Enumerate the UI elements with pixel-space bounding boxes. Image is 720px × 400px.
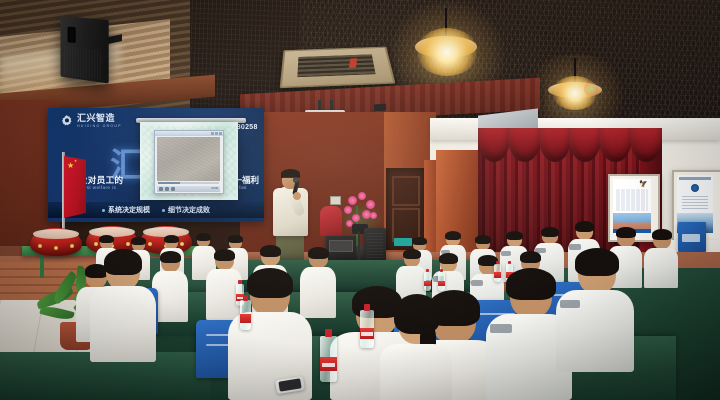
conference-room-photo: 🦅 [0,0,720,400]
speaker-grille [64,46,103,81]
bottle-label [240,314,251,323]
attendee-hair [475,235,491,244]
attendee-torso [380,344,452,400]
table-leg [40,256,44,278]
vent-inner [297,54,375,77]
bottle-label [424,281,431,287]
projection-screen: 00:00 [140,122,238,200]
air-conditioner-vent [280,47,396,89]
logo-subtext: HUIXING GROUP [77,124,122,128]
attendee-hair [445,231,461,240]
attendee [644,230,678,288]
attendee-hair [247,268,293,298]
curtain-valance [478,128,660,162]
valance-swag [599,128,631,162]
water-bottle[interactable] [360,310,374,348]
attendee-hair [160,251,181,263]
poster-logo-icon [691,184,699,192]
attendee-hair [412,237,427,245]
phone-screen [278,378,301,391]
stop-icon[interactable] [171,187,175,191]
seek-progress [158,182,180,184]
attendee-hair [228,235,243,243]
attendee-hair [99,235,114,243]
eagle-icon: 🦅 [639,181,648,188]
attendee-hair [506,268,556,300]
attendee-hair [616,227,636,238]
close-icon[interactable] [219,132,222,135]
media-player-window[interactable]: 00:00 [154,130,224,194]
water-bottle[interactable] [438,272,445,291]
attendee-torso [90,286,156,362]
uniform-stripe [490,324,512,333]
uniform-stripe [560,300,580,308]
attendee-hair [575,221,594,232]
attendee-hair [214,249,235,261]
flag-small-star-icon: ★ [74,160,77,164]
vent-slats [297,54,375,77]
attendee-hair [403,249,421,259]
video-noise [157,137,220,181]
footer-item: 细节决定成败 [162,205,210,215]
valance-swag [539,128,571,162]
flower-bloom [352,214,360,222]
attendee-hair [260,245,281,257]
attendee-hair [541,227,559,237]
attendee-foreground [556,252,634,372]
attendee-hair [439,253,458,264]
logo-text: 汇兴智造 [77,114,122,123]
poster-title-bar [679,177,711,180]
attendee-foreground [90,252,156,362]
valance-swag [508,128,540,162]
flower-bloom [366,200,375,209]
lens-flare [584,82,598,96]
water-bottle[interactable] [240,300,251,330]
uniform-stripe [471,280,483,286]
bullet-icon [162,209,165,212]
attendee-hair [308,247,329,259]
flower-bloom [358,192,366,200]
flower-bloom [348,196,357,205]
bottle-cap [325,329,332,337]
valance-swag [630,128,662,162]
ceremonial-drum [30,228,82,256]
water-bottle[interactable] [424,272,431,291]
microphone-head-icon [293,177,299,183]
minimize-icon[interactable] [211,132,214,135]
poster-text-lines [682,195,708,209]
company-logo: 汇兴智造 HUIXING GROUP [60,114,122,128]
attendee-hair [196,233,211,241]
attendee-ponytail [380,296,452,400]
drum-stud [70,244,74,248]
valance-swag [478,128,510,162]
valance-swag [569,128,601,162]
presenter-hand [293,192,301,200]
stage-chair [320,206,342,236]
speaker-port [68,26,76,43]
bottle-cap [364,304,370,311]
bottle-label-stripe [361,332,372,336]
footer-item-label: 细节决定成败 [168,205,210,215]
drum-stud [54,246,58,250]
attendee-torso [644,248,678,288]
attendee-hair [520,251,541,263]
drum-head [33,229,79,239]
attendee-hair [131,237,146,245]
blue-equipment-box [678,222,706,252]
attendee-hair [506,231,523,240]
attendee-hair [104,249,142,275]
flower-bloom [370,212,377,219]
video-canvas [157,137,220,181]
attendee-hair [575,248,619,276]
attendee-hair [164,235,179,243]
hanging-pa-speaker [60,16,108,84]
pause-icon[interactable] [165,187,169,191]
seek-bar[interactable] [158,182,219,184]
calendar-grid [616,189,648,211]
uniform-stripe [569,244,581,250]
footer-item-label: 系统决定规模 [108,205,150,215]
bottle-cap [243,295,248,300]
small-ceiling-speaker [374,104,386,112]
gear-icon [60,114,74,128]
bullet-icon [102,209,105,212]
window-titlebar[interactable] [155,131,223,136]
pendant-light-1-bulb [416,28,478,76]
vent-ribbon [349,58,357,68]
bottle-label-stripe [322,363,336,368]
footer-item: 系统决定规模 [102,205,150,215]
bottle-label [438,281,445,287]
door-panel-upper [392,176,420,206]
player-time-label: 00:00 [212,187,219,190]
maximize-icon[interactable] [215,132,218,135]
poster-artwork: 🦅 [613,179,651,233]
play-icon[interactable] [159,187,163,191]
player-controls[interactable]: 00:00 [157,186,220,192]
flower-bloom [344,206,352,214]
box-label [682,234,700,242]
water-bottle[interactable] [320,336,337,382]
drum-stud [38,244,42,248]
attendee-hair [652,229,672,240]
